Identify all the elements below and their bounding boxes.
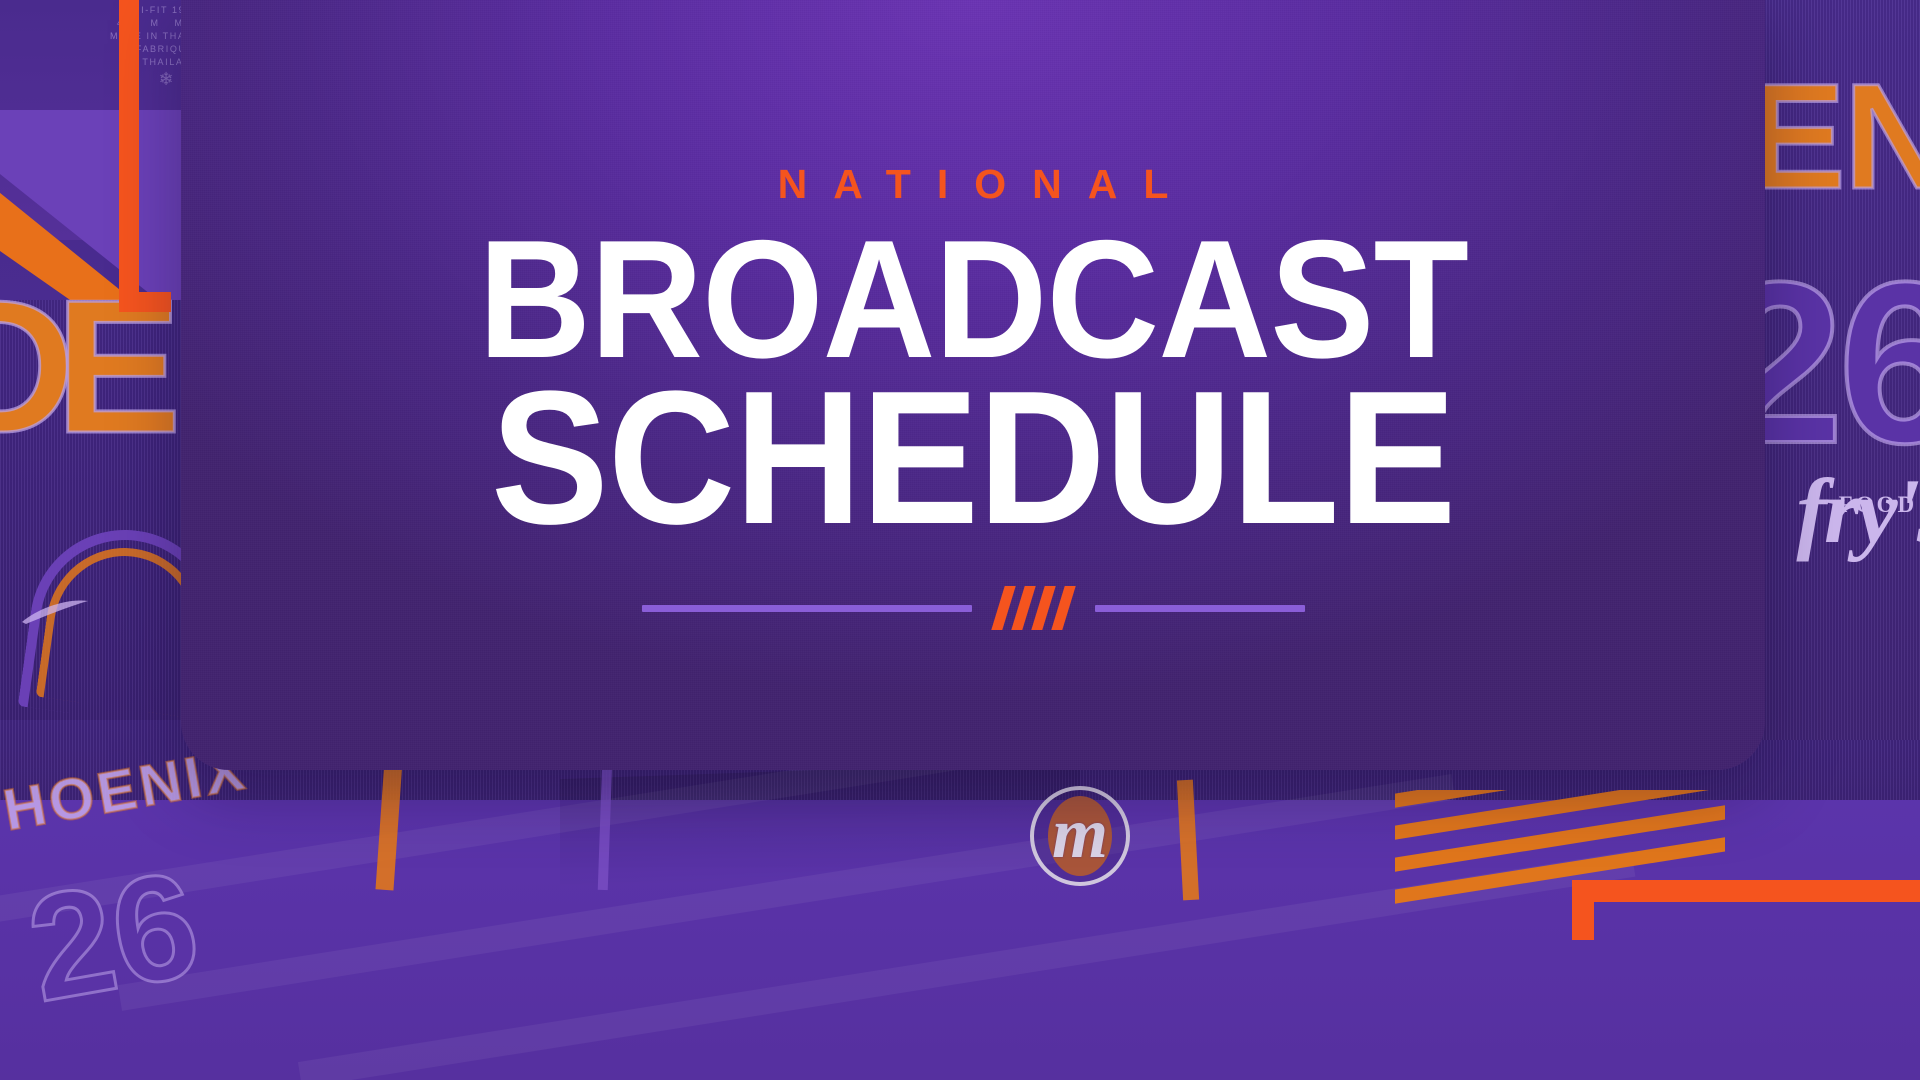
divider-slashes <box>972 586 1095 630</box>
sponsor-tagline: FOOD ST <box>1839 492 1920 518</box>
accent-bar-top-left-cap <box>119 292 171 312</box>
nike-swoosh-icon <box>20 600 90 626</box>
slash-icon <box>1011 586 1035 630</box>
slash-icon <box>1031 586 1055 630</box>
mercury-m-logo: m <box>1030 786 1130 886</box>
logo-letter-m: m <box>1030 786 1130 886</box>
slash-icon <box>1051 586 1075 630</box>
sponsor-logo: fry's FOOD ST <box>1796 470 1920 553</box>
accent-bar-bottom-right <box>1572 880 1920 902</box>
jersey-letters: EN <box>1746 50 1920 223</box>
divider-line-left <box>642 605 972 612</box>
slash-icon <box>991 586 1015 630</box>
broadcast-schedule-graphic: DRI-FIT 19520 42 M M M MADE IN THAILAND … <box>0 0 1920 1080</box>
accent-bar-bottom-right-vertical <box>1572 880 1594 940</box>
page-title: BROADCAST SCHEDULE <box>478 227 1468 541</box>
headline-line-2: SCHEDULE <box>478 377 1468 540</box>
headline-line-1: BROADCAST <box>478 227 1468 371</box>
snowflake-icon: ❄ <box>155 68 177 90</box>
accent-bar-top-left <box>119 0 139 312</box>
eyebrow-label: NATIONAL <box>752 164 1195 205</box>
divider-line-right <box>1095 605 1305 612</box>
jersey-number: 26 <box>16 837 210 1036</box>
jersey-fold-shadow <box>560 761 1080 889</box>
title-card: NATIONAL BROADCAST SCHEDULE <box>181 0 1765 770</box>
divider <box>633 586 1313 630</box>
sleeve-stripes <box>1395 790 1725 940</box>
